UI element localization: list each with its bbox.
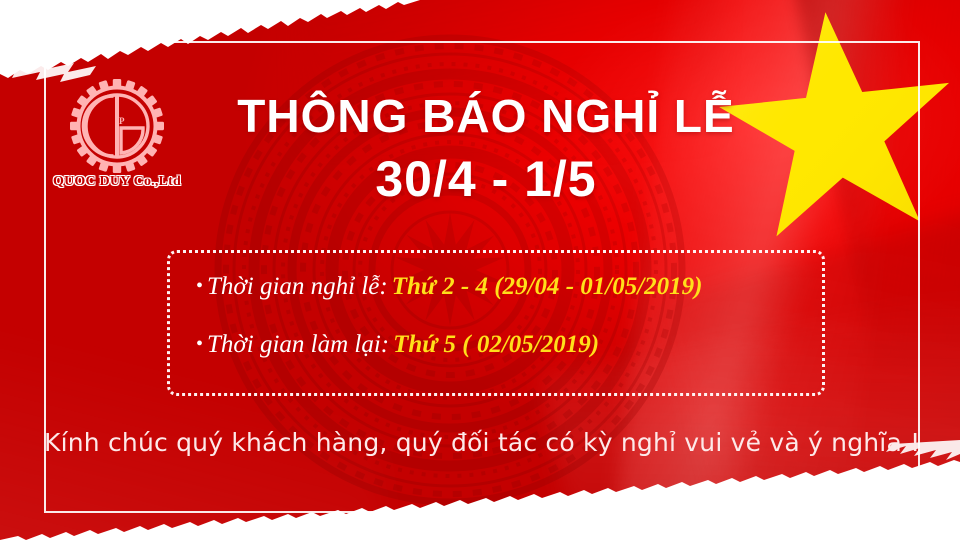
gear-icon: P (52, 78, 182, 176)
company-name: QUOC DUY Co.,Ltd (52, 174, 182, 190)
holiday-announcement-banner: P QUOC DUY Co.,Ltd THÔNG BÁO NGHỈ LỄ 30/… (0, 0, 960, 550)
holiday-date-range: 30/4 - 1/5 (206, 152, 766, 207)
info-value: Thứ 2 - 4 (29/04 - 01/05/2019) (392, 273, 703, 300)
company-logo: P QUOC DUY Co.,Ltd (52, 78, 182, 198)
info-line-return-date: •Thời gian làm lại:Thứ 5 ( 02/05/2019) (196, 329, 822, 360)
bullet-icon: • (196, 274, 203, 299)
holiday-details-box: •Thời gian nghỉ lễ:Thứ 2 - 4 (29/04 - 01… (167, 250, 825, 396)
info-label: Thời gian làm lại: (207, 331, 389, 358)
info-label: Thời gian nghỉ lễ: (207, 273, 388, 300)
greeting-message: Kính chúc quý khách hàng, quý đối tác có… (44, 428, 920, 457)
svg-text:P: P (119, 116, 125, 126)
bullet-icon: • (196, 332, 203, 357)
info-line-holiday-period: •Thời gian nghỉ lễ:Thứ 2 - 4 (29/04 - 01… (196, 271, 822, 302)
page-title: THÔNG BÁO NGHỈ LỄ (206, 92, 766, 140)
info-value: Thứ 5 ( 02/05/2019) (393, 331, 599, 358)
